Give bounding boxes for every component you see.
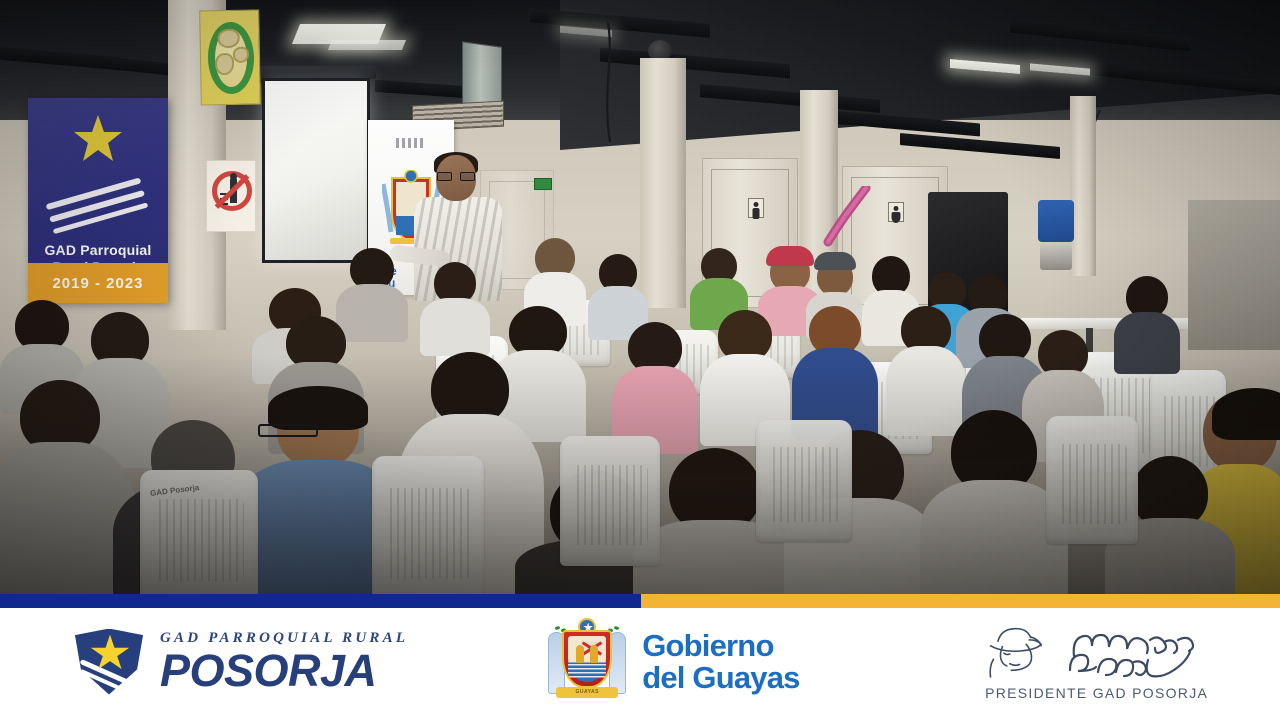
exit-sign bbox=[534, 178, 552, 190]
gad-wall-banner: GAD Parroquial Rural Posorja 2019 - 2023 bbox=[28, 98, 168, 303]
figure-left-icon bbox=[576, 645, 584, 663]
posorja-logo: GAD PARROQUIAL RURAL POSORJA bbox=[72, 627, 408, 697]
women-restroom-pictogram-icon bbox=[888, 202, 904, 222]
footer-divider bbox=[0, 594, 1280, 608]
no-littering-sign bbox=[206, 160, 256, 232]
attendee-body bbox=[1114, 312, 1180, 374]
plastic-chair bbox=[1046, 416, 1138, 544]
presenter-glasses-icon bbox=[437, 172, 475, 181]
figure-right-icon bbox=[590, 645, 598, 663]
wall-painting bbox=[199, 9, 261, 105]
attendee-glasses-icon bbox=[258, 424, 318, 437]
divider-blue-segment bbox=[0, 594, 641, 608]
president-signature-logo: PRESIDENTE GAD POSORJA bbox=[980, 622, 1214, 701]
fluorescent-light bbox=[328, 40, 406, 50]
wall-pillar bbox=[1070, 96, 1096, 276]
water-dispenser bbox=[1038, 200, 1074, 242]
tinsel-decoration-icon bbox=[812, 186, 878, 248]
plastic-chair bbox=[756, 420, 852, 542]
guayas-wordmark: Gobierno del Guayas bbox=[642, 630, 799, 693]
romero-mark-row bbox=[980, 622, 1214, 680]
shield-icon bbox=[562, 630, 612, 688]
star-icon bbox=[72, 114, 124, 164]
posorja-wordmark: GAD PARROQUIAL RURAL POSORJA bbox=[160, 631, 408, 693]
posorja-kicker: GAD PARROQUIAL RURAL bbox=[160, 631, 408, 646]
attendee-hair bbox=[1212, 388, 1280, 440]
footer-logo-bar: GAD PARROQUIAL RURAL POSORJA bbox=[0, 608, 1280, 715]
plastic-chair bbox=[372, 456, 484, 594]
hat-face-icon bbox=[980, 622, 1062, 680]
banner-stripes bbox=[46, 177, 153, 248]
rollup-logo-mark bbox=[396, 138, 426, 148]
president-subtitle: PRESIDENTE GAD POSORJA bbox=[985, 685, 1208, 701]
posorja-name: POSORJA bbox=[160, 648, 408, 693]
men-restroom-pictogram-icon bbox=[748, 198, 764, 218]
attendee-body bbox=[420, 298, 490, 356]
romero-block: PRESIDENTE GAD POSORJA bbox=[980, 622, 1214, 701]
attendee bbox=[420, 262, 490, 354]
guayas-coat-of-arms-icon: GUAYAS bbox=[548, 618, 626, 706]
posorja-emblem-icon bbox=[72, 627, 146, 697]
plastic-chair bbox=[560, 436, 660, 566]
guayas-line-1: Gobierno bbox=[642, 630, 799, 662]
waves-icon bbox=[568, 664, 606, 678]
banner-line-1: GAD Parroquial bbox=[28, 242, 168, 258]
banner-years: 2019 - 2023 bbox=[28, 263, 168, 303]
projector-screen bbox=[262, 78, 370, 263]
grey-cap-icon bbox=[814, 252, 856, 270]
guayas-ribbon: GUAYAS bbox=[556, 687, 618, 698]
shield-field bbox=[568, 636, 606, 682]
water-dispenser-base bbox=[1040, 242, 1072, 270]
attendee bbox=[792, 306, 878, 434]
event-photo: GAD Parroquial Rural Posorja 2019 - 2023… bbox=[0, 0, 1280, 594]
manuel-romero-signature-icon bbox=[1064, 622, 1214, 680]
guayas-line-2: del Guayas bbox=[642, 662, 799, 694]
guayas-logo: GUAYAS Gobierno del Guayas bbox=[548, 618, 799, 706]
attendee bbox=[612, 322, 698, 448]
attendee bbox=[1114, 276, 1180, 372]
wall-panel-dark bbox=[1188, 200, 1280, 350]
page-root: GAD Parroquial Rural Posorja 2019 - 2023… bbox=[0, 0, 1280, 715]
divider-gold-segment bbox=[641, 594, 1280, 608]
attendee bbox=[926, 410, 1062, 594]
attendee bbox=[0, 380, 130, 594]
